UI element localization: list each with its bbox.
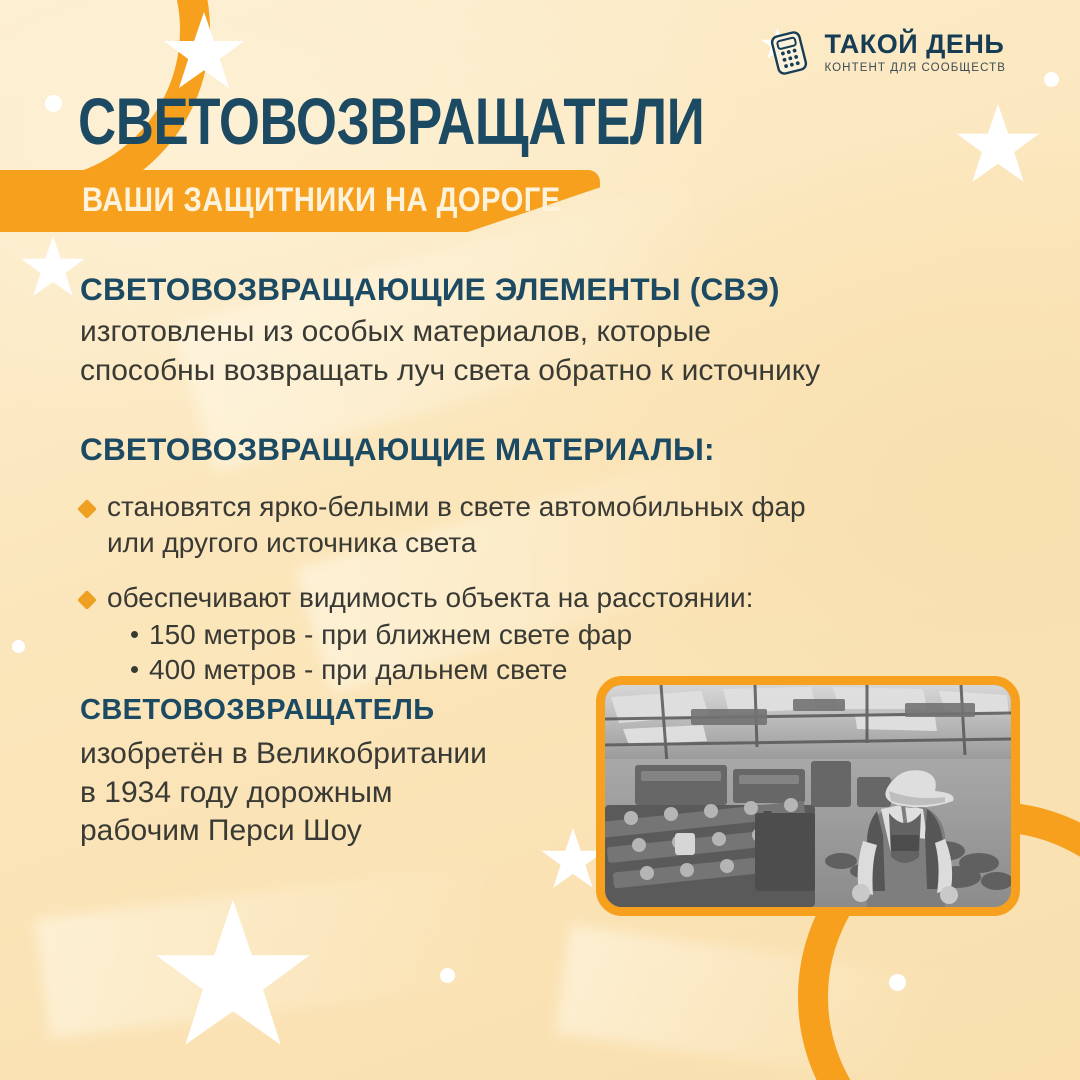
section-heading-history: СВЕТОВОЗВРАЩАТЕЛЬ (80, 694, 600, 726)
background-sheen (555, 924, 1080, 1080)
sub-list-item-text: 400 метров - при дальнем свете (149, 652, 567, 687)
history-text-column: СВЕТОВОЗВРАЩАТЕЛЬ изобретён в Великобрит… (80, 694, 600, 851)
list-item: становятся ярко-белыми в свете автомобил… (80, 489, 1010, 560)
text-line: изготовлены из особых материалов, которы… (80, 313, 1010, 351)
list-item-text: обеспечивают видимость объекта на рассто… (107, 580, 753, 688)
logo-subtitle: КОНТЕНТ ДЛЯ СООБЩЕСТВ (824, 63, 1006, 75)
background-sheen (35, 841, 685, 1038)
decorative-dot (12, 640, 25, 653)
calculator-device-icon (768, 30, 810, 76)
text-line: или другого источника света (107, 525, 806, 560)
text-line: изобретён в Великобритании (80, 735, 600, 773)
page-title: СВЕТОВОЗВРАЩАТЕЛИ (78, 88, 704, 154)
brand-logo: ТАКОЙ ДЕНЬ КОНТЕНТ ДЛЯ СООБЩЕСТВ (762, 26, 1006, 80)
list-item-text: становятся ярко-белыми в свете автомобил… (107, 489, 806, 560)
section-heading-elements: СВЕТОВОЗВРАЩАЮЩИЕ ЭЛЕМЕНТЫ (СВЭ) (80, 272, 1010, 307)
historical-photo (596, 676, 1020, 916)
star-icon (20, 236, 86, 302)
diamond-bullet-icon (77, 499, 97, 519)
decorative-dot (440, 968, 455, 983)
section-elements: СВЕТОВОЗВРАЩАЮЩИЕ ЭЛЕМЕНТЫ (СВЭ) изготов… (80, 272, 1010, 390)
text-line: способны возвращать луч света обратно к … (80, 352, 1010, 390)
materials-bullet-list: становятся ярко-белыми в свете автомобил… (80, 489, 1010, 687)
factory-photo-illustration (605, 685, 1011, 907)
main-content: СВЕТОВОЗВРАЩАЮЩИЕ ЭЛЕМЕНТЫ (СВЭ) изготов… (80, 272, 1010, 708)
text-line: обеспечивают видимость объекта на рассто… (107, 580, 753, 615)
section-materials: СВЕТОВОЗВРАЩАЮЩИЕ МАТЕРИАЛЫ: становятся … (80, 432, 1010, 688)
decorative-dot (1044, 72, 1059, 87)
diamond-bullet-icon (77, 590, 97, 610)
star-icon (955, 104, 1041, 190)
list-item: обеспечивают видимость объекта на рассто… (80, 580, 1010, 688)
sub-list-item-text: 150 метров - при ближнем свете фар (149, 617, 632, 652)
section-body-elements: изготовлены из особых материалов, которы… (80, 313, 1010, 390)
logo-title: ТАКОЙ ДЕНЬ (824, 31, 1006, 58)
section-body-history: изобретён в Великобритании в 1934 году д… (80, 735, 600, 850)
sub-list-item: 150 метров - при ближнем свете фар (107, 617, 753, 652)
logo-text: ТАКОЙ ДЕНЬ КОНТЕНТ ДЛЯ СООБЩЕСТВ (824, 31, 1006, 75)
decorative-dot (45, 95, 62, 112)
infographic-poster: ТАКОЙ ДЕНЬ КОНТЕНТ ДЛЯ СООБЩЕСТВ СВЕТОВО… (0, 0, 1080, 1080)
text-line: в 1934 году дорожным (80, 774, 600, 812)
dot-bullet-icon (131, 631, 138, 638)
logo-mark (762, 26, 814, 80)
text-line: становятся ярко-белыми в свете автомобил… (107, 489, 806, 524)
subtitle-text: ВАШИ ЗАЩИТНИКИ НА ДОРОГЕ (82, 183, 561, 217)
decorative-dot (889, 974, 906, 991)
text-line: рабочим Перси Шоу (80, 812, 600, 850)
star-icon (153, 900, 313, 1060)
section-heading-materials: СВЕТОВОЗВРАЩАЮЩИЕ МАТЕРИАЛЫ: (80, 432, 1010, 467)
dot-bullet-icon (131, 666, 138, 673)
